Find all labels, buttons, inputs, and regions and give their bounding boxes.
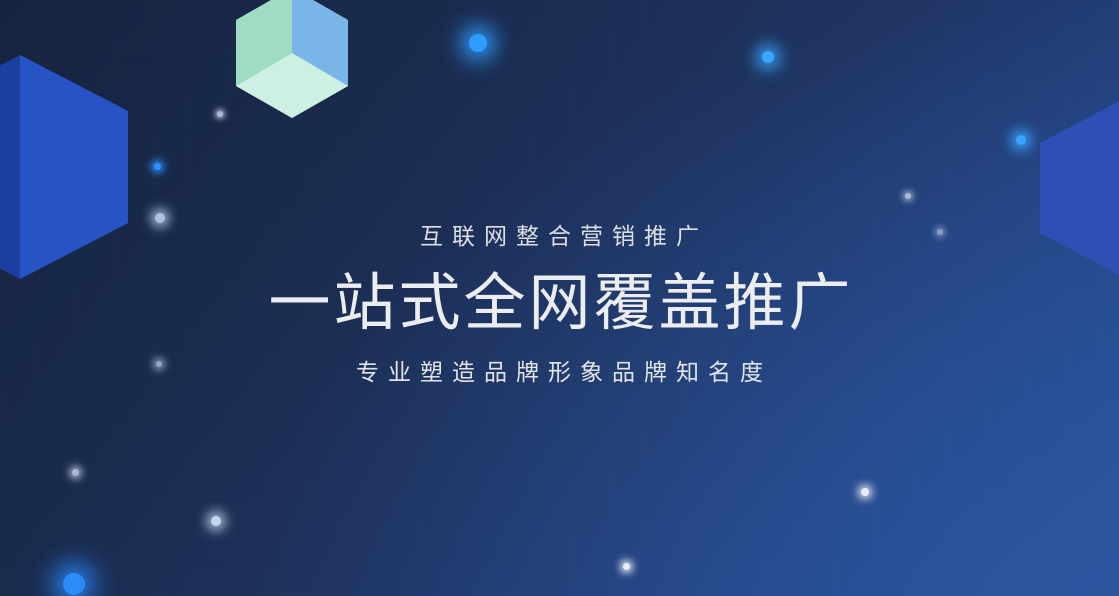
glow-particle: [1016, 135, 1026, 145]
hero-headline: 一站式全网覆盖推广: [0, 269, 1119, 338]
glow-particle: [211, 516, 221, 526]
glow-particle: [217, 111, 223, 117]
glow-particle: [861, 488, 869, 496]
glow-particle: [469, 34, 487, 52]
glow-particle: [905, 193, 911, 199]
hero-eyebrow: 互联网整合营销推广: [0, 222, 1119, 252]
glow-particle: [623, 563, 630, 570]
hero-tagline: 专业塑造品牌形象品牌知名度: [0, 358, 1119, 388]
glow-particle: [154, 163, 161, 170]
hero-copy-block: 互联网整合营销推广 一站式全网覆盖推广 专业塑造品牌形象品牌知名度: [0, 222, 1119, 388]
isometric-cube-logo-icon: [236, 0, 348, 118]
glow-particle: [63, 573, 85, 595]
glow-particle: [72, 469, 79, 476]
glow-particle: [762, 51, 774, 63]
hero-banner: 互联网整合营销推广 一站式全网覆盖推广 专业塑造品牌形象品牌知名度: [0, 0, 1119, 596]
